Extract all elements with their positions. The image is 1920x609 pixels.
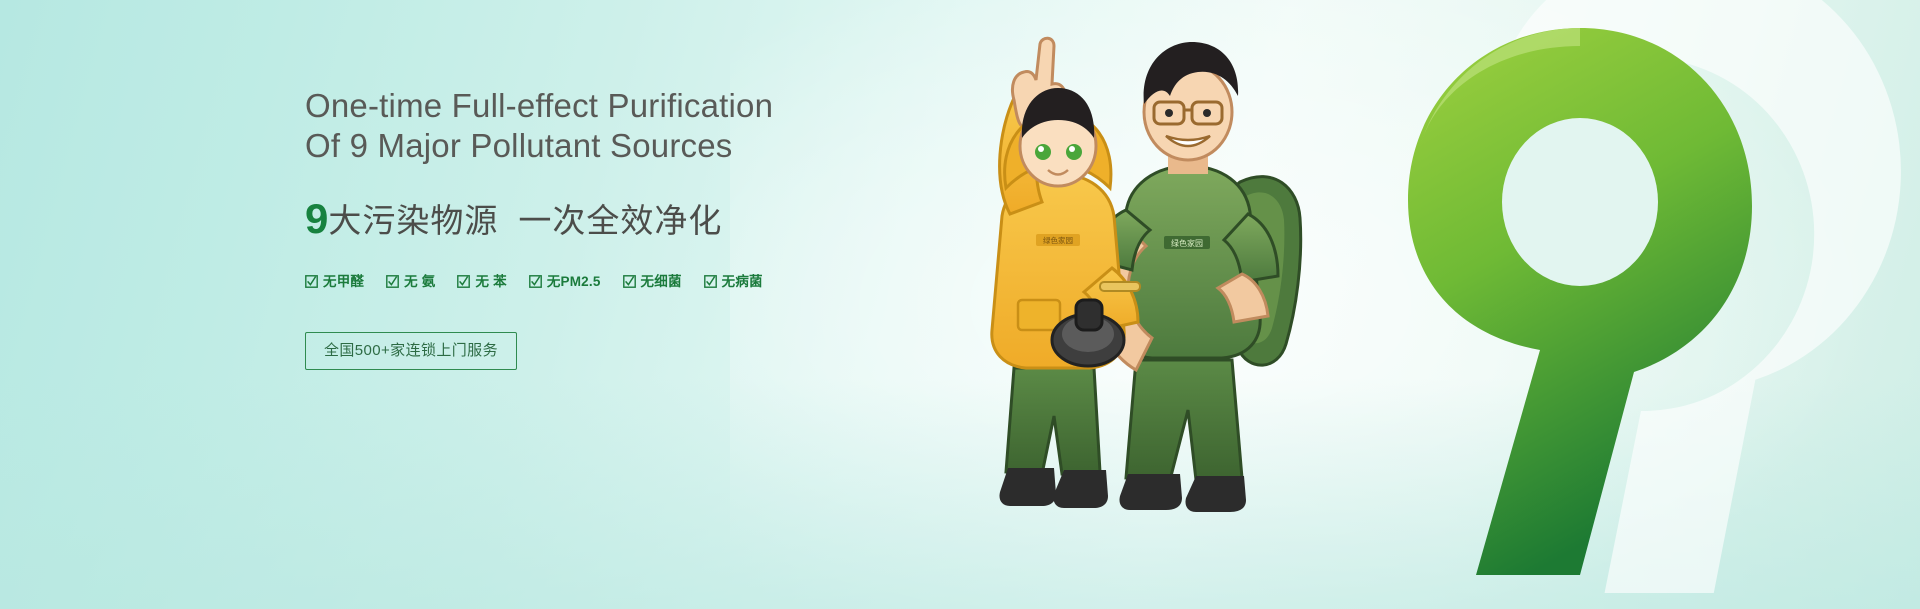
feature-badge-list: 无甲醛 无 氨 无 苯	[305, 275, 925, 289]
headline-english: One-time Full-effect Purification Of 9 M…	[305, 86, 925, 166]
feature-badge-label: 无病菌	[722, 275, 763, 289]
feature-badge: 无甲醛	[305, 275, 364, 289]
checkbox-tick-icon	[529, 275, 542, 288]
checkbox-tick-icon	[704, 275, 717, 288]
banner-copy: One-time Full-effect Purification Of 9 M…	[305, 86, 925, 370]
feature-badge: 无 氨	[386, 275, 435, 289]
feature-badge-label: 无细菌	[641, 275, 682, 289]
checkbox-tick-icon	[386, 275, 399, 288]
nationwide-service-cta-button[interactable]: 全国500+家连锁上门服务	[305, 332, 517, 370]
checkbox-tick-icon	[457, 275, 470, 288]
headline-number: 9	[305, 195, 328, 242]
checkbox-tick-icon	[305, 275, 318, 288]
feature-badge-label: 无 苯	[475, 275, 506, 289]
checkbox-tick-icon	[623, 275, 636, 288]
feature-badge-label: 无甲醛	[323, 275, 364, 289]
headline-chinese-part2: 一次全效净化	[518, 202, 722, 239]
feature-badge: 无PM2.5	[529, 275, 601, 289]
headline-chinese-part1: 大污染物源	[328, 202, 498, 239]
feature-badge: 无 苯	[457, 275, 506, 289]
svg-text:绿色家园: 绿色家园	[1171, 238, 1203, 248]
feature-badge: 无病菌	[704, 275, 763, 289]
banner-illustration: 绿色家园	[940, 0, 1920, 609]
feature-badge-label: 无 氨	[404, 275, 435, 289]
headline-chinese: 9大污染物源一次全效净化	[305, 166, 925, 241]
promo-banner: 绿色家园	[0, 0, 1920, 609]
feature-badge-label: 无PM2.5	[547, 275, 601, 289]
svg-text:绿色家园: 绿色家园	[1043, 235, 1073, 245]
feature-badge: 无细菌	[623, 275, 682, 289]
